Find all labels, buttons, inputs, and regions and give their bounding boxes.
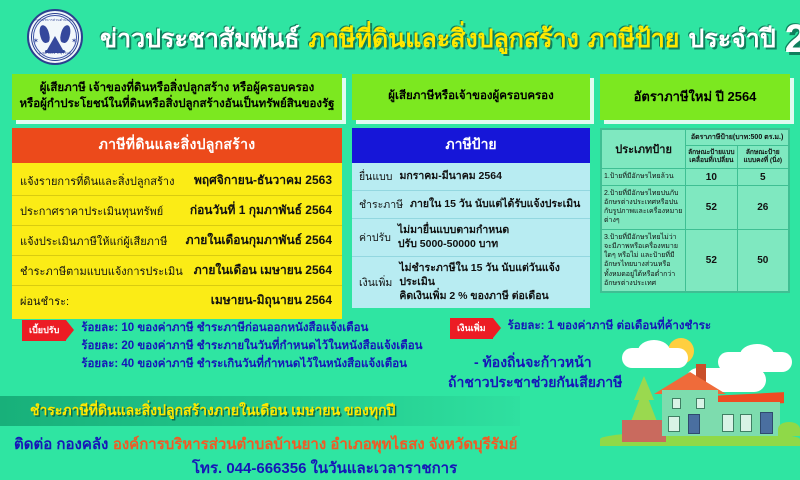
rate-table-row: 2.ป้ายที่มีอักษรไทยปนกับอักษรต่างประเทศห… bbox=[602, 185, 789, 229]
sign-tax-row-value: ไม่มายื่นแบบตามกำหนดปรับ 5000-50000 บาท bbox=[398, 224, 509, 251]
penalty-right-lines: ร้อยละ: 1 ของค่าภาษี ต่อเดือนที่ค้างชำระ bbox=[508, 318, 712, 336]
rate-table-grid: ประเภทป้าย อัตราภาษีป้าย(บาท:500 ตร.ม.) … bbox=[601, 129, 789, 292]
organization-logo: องค์การบริหารส่วนตำบลบ้านยาง ✶ ✶ อ.พุทไธ… bbox=[27, 9, 83, 65]
penalty-left-lines: ร้อยละ: 10 ของค่าภาษี ชำระภาษีก่อนออกหนั… bbox=[81, 320, 422, 373]
land-tax-row-label: แจ้งประเมินภาษีให้แก่ผู้เสียภาษี bbox=[20, 232, 167, 250]
footer-contact-label: ติดต่อ กองคลัง bbox=[14, 436, 108, 453]
rate-row-value-movable: 52 bbox=[686, 185, 737, 229]
land-tax-row-value: ก่อนวันที่ 1 กุมภาพันธ์ 2564 bbox=[190, 201, 332, 220]
penalty-tag-surcharge: เงินเพิ่ม bbox=[450, 318, 493, 339]
rate-col-type: ประเภทป้าย bbox=[602, 130, 686, 169]
sign-tax-row-value: มกราคม-มีนาคม 2564 bbox=[399, 170, 501, 184]
penalty-tag-fine: เบี้ยปรับ bbox=[22, 320, 66, 341]
land-tax-row-value: ภายในเดือน เมษายน 2564 bbox=[194, 261, 332, 280]
house-window-1 bbox=[672, 398, 681, 409]
subhead-right: อัตราภาษีใหม่ ปี 2564 bbox=[600, 74, 790, 120]
land-tax-row: ชำระภาษีตามแบบแจ้งการประเมินภายในเดือน เ… bbox=[12, 256, 342, 286]
land-tax-row-label: ประกาศราคาประเมินทุนทรัพย์ bbox=[20, 202, 163, 220]
rate-col-group: อัตราภาษีป้าย(บาท:500 ตร.ม.) bbox=[686, 130, 789, 146]
rate-table-row: 3.ป้ายที่มีอักษรไทยไม่ว่าจะมีภาพหรือเครื… bbox=[602, 229, 789, 291]
logo-bottom-text: อ.พุทไธสง จ.บุรีรัมย์ bbox=[29, 51, 81, 56]
rate-col-sub-1: ลักษณะป้ายแบบเคลื่อนที่/เปลี่ยน bbox=[686, 146, 737, 169]
sign-tax-row: ยื่นแบบมกราคม-มีนาคม 2564 bbox=[352, 163, 590, 191]
title-part-annual: ประจำปี bbox=[688, 19, 775, 59]
reminder-banner-text: ชำระภาษีที่ดินและสิ่งปลูกสร้างภายในเดือน… bbox=[30, 400, 395, 422]
logo-triangle bbox=[47, 36, 63, 50]
cloud-icon-2-top bbox=[740, 344, 774, 366]
sign-tax-row-key: ชำระภาษี bbox=[359, 196, 403, 213]
penalty-line: ร้อยละ: 20 ของค่าภาษี ชำระภายในวันที่กำห… bbox=[81, 338, 422, 356]
rate-row-desc: 3.ป้ายที่มีอักษรไทยไม่ว่าจะมีภาพหรือเครื… bbox=[602, 229, 686, 291]
sign-tax-panel: ภาษีป้าย ยื่นแบบมกราคม-มีนาคม 2564ชำระภา… bbox=[352, 128, 590, 308]
rate-col-sub-2: ลักษณะป้ายแบบคงที่ (นิ่ง) bbox=[737, 146, 788, 169]
page-title: ข่าวประชาสัมพันธ์ ภาษีที่ดินและสิ่งปลูกส… bbox=[100, 14, 792, 64]
land-tax-row: แจ้งประเมินภาษีให้แก่ผู้เสียภาษีภายในเดื… bbox=[12, 226, 342, 256]
logo-star-right-icon: ✶ bbox=[71, 37, 77, 45]
reminder-banner: ชำระภาษีที่ดินและสิ่งปลูกสร้างภายในเดือน… bbox=[0, 396, 520, 426]
sign-tax-title: ภาษีป้าย bbox=[352, 128, 590, 163]
penalty-line: ร้อยละ: 10 ของค่าภาษี ชำระภาษีก่อนออกหนั… bbox=[81, 320, 422, 338]
land-tax-panel: ภาษีที่ดินและสิ่งปลูกสร้าง แจ้งรายการที่… bbox=[12, 128, 342, 319]
land-tax-row: ผ่อนชำระ:เมษายน-มิถุนายน 2564 bbox=[12, 286, 342, 315]
penalty-block-left: เบี้ยปรับ ร้อยละ: 10 ของค่าภาษี ชำระภาษี… bbox=[22, 320, 422, 373]
land-tax-row-value: พฤศจิกายน-ธันวาคม 2563 bbox=[194, 171, 332, 190]
land-tax-row-value: ภายในเดือนกุมภาพันธ์ 2564 bbox=[186, 231, 332, 250]
subhead-left-line1: ผู้เสียภาษี เจ้าของที่ดินหรือสิ่งปลูกสร้… bbox=[40, 81, 315, 97]
rate-row-value-movable: 52 bbox=[686, 229, 737, 291]
land-tax-row-label: ผ่อนชำระ: bbox=[20, 292, 69, 310]
rate-row-desc: 2.ป้ายที่มีอักษรไทยปนกับอักษรต่างประเทศห… bbox=[602, 185, 686, 229]
land-tax-row-label: แจ้งรายการที่ดินและสิ่งปลูกสร้าง bbox=[20, 172, 174, 190]
footer: ติดต่อ กองคลัง องค์การบริหารส่วนตำบลบ้าน… bbox=[0, 430, 800, 480]
rate-row-value-fixed: 50 bbox=[737, 229, 788, 291]
rate-row-value-movable: 10 bbox=[686, 169, 737, 185]
house-window-2 bbox=[696, 398, 705, 409]
rate-table: ประเภทป้าย อัตราภาษีป้าย(บาท:500 ตร.ม.) … bbox=[600, 128, 790, 293]
logo-top-text: องค์การบริหารส่วนตำบลบ้านยาง bbox=[29, 18, 81, 23]
title-part-sign-tax: ภาษีป้าย bbox=[588, 19, 680, 59]
rate-table-row: 1.ป้ายที่มีอักษรไทยล้วน105 bbox=[602, 169, 789, 185]
title-part-news: ข่าวประชาสัมพันธ์ bbox=[100, 19, 299, 59]
subhead-left-line2: หรือผู้กำประโยชน์ในที่ดินหรือสิ่งปลูกสร้… bbox=[19, 97, 334, 113]
sign-tax-row-key: ยื่นแบบ bbox=[359, 168, 392, 185]
poster-root: องค์การบริหารส่วนตำบลบ้านยาง ✶ ✶ อ.พุทไธ… bbox=[0, 0, 800, 480]
sign-tax-row: ชำระภาษีภายใน 15 วัน นับแต่ได้รับแจ้งประ… bbox=[352, 191, 590, 219]
sign-tax-row-key: ค่าปรับ bbox=[359, 229, 391, 246]
subhead-middle: ผู้เสียภาษีหรือเจ้าของผู้ครอบครอง bbox=[352, 74, 590, 120]
rate-table-head: ประเภทป้าย อัตราภาษีป้าย(บาท:500 ตร.ม.) … bbox=[602, 130, 789, 169]
footer-phone-line: โทร. 044-666356 ในวันและเวลาราชการ bbox=[192, 456, 457, 480]
land-tax-row-label: ชำระภาษีตามแบบแจ้งการประเมิน bbox=[20, 262, 183, 280]
rate-row-value-fixed: 5 bbox=[737, 169, 788, 185]
footer-organization: องค์การบริหารส่วนตำบลบ้านยาง อำเภอพุทไธส… bbox=[113, 436, 518, 453]
footer-phone: โทร. 044-666356 ในวันและเวลาราชการ bbox=[192, 460, 457, 477]
sign-tax-row-value: ภายใน 15 วัน นับแต่ได้รับแจ้งประเมิน bbox=[410, 198, 580, 212]
tree-top-icon bbox=[634, 376, 654, 400]
subhead-left: ผู้เสียภาษี เจ้าของที่ดินหรือสิ่งปลูกสร้… bbox=[12, 74, 342, 120]
sign-tax-row-value: ไม่ชำระภาษีใน 15 วัน นับแต่วันแจ้งประเมิ… bbox=[399, 262, 584, 303]
cloud-icon-1-top bbox=[638, 340, 670, 362]
sign-tax-row: ค่าปรับไม่มายื่นแบบตามกำหนดปรับ 5000-500… bbox=[352, 219, 590, 257]
logo-star-left-icon: ✶ bbox=[33, 37, 39, 45]
rate-table-body: 1.ป้ายที่มีอักษรไทยล้วน1052.ป้ายที่มีอัก… bbox=[602, 169, 789, 292]
sign-tax-rows: ยื่นแบบมกราคม-มีนาคม 2564ชำระภาษีภายใน 1… bbox=[352, 163, 590, 308]
land-tax-row-value: เมษายน-มิถุนายน 2564 bbox=[211, 291, 332, 310]
land-tax-rows: แจ้งรายการที่ดินและสิ่งปลูกสร้างพฤศจิกาย… bbox=[12, 163, 342, 319]
land-tax-title: ภาษีที่ดินและสิ่งปลูกสร้าง bbox=[12, 128, 342, 163]
penalty-line: ร้อยละ: 1 ของค่าภาษี ต่อเดือนที่ค้างชำระ bbox=[508, 318, 712, 336]
title-year: 2564 bbox=[785, 19, 800, 59]
header: องค์การบริหารส่วนตำบลบ้านยาง ✶ ✶ อ.พุทไธ… bbox=[0, 0, 800, 72]
rate-row-value-fixed: 26 bbox=[737, 185, 788, 229]
footer-contact-line: ติดต่อ กองคลัง องค์การบริหารส่วนตำบลบ้าน… bbox=[14, 432, 517, 456]
land-tax-row: ประกาศราคาประเมินทุนทรัพย์ก่อนวันที่ 1 ก… bbox=[12, 196, 342, 226]
logo-emblem bbox=[40, 25, 70, 51]
land-tax-row: แจ้งรายการที่ดินและสิ่งปลูกสร้างพฤศจิกาย… bbox=[12, 166, 342, 196]
rate-row-desc: 1.ป้ายที่มีอักษรไทยล้วน bbox=[602, 169, 686, 185]
sign-tax-row-key: เงินเพิ่ม bbox=[359, 274, 392, 291]
rate-table-head-row-1: ประเภทป้าย อัตราภาษีป้าย(บาท:500 ตร.ม.) bbox=[602, 130, 789, 146]
penalty-line: ร้อยละ: 40 ของค่าภาษี ชำระเกินวันที่กำหน… bbox=[81, 356, 422, 374]
sign-tax-row: เงินเพิ่มไม่ชำระภาษีใน 15 วัน นับแต่วันแ… bbox=[352, 257, 590, 308]
title-part-land-tax: ภาษีที่ดินและสิ่งปลูกสร้าง bbox=[308, 19, 578, 59]
